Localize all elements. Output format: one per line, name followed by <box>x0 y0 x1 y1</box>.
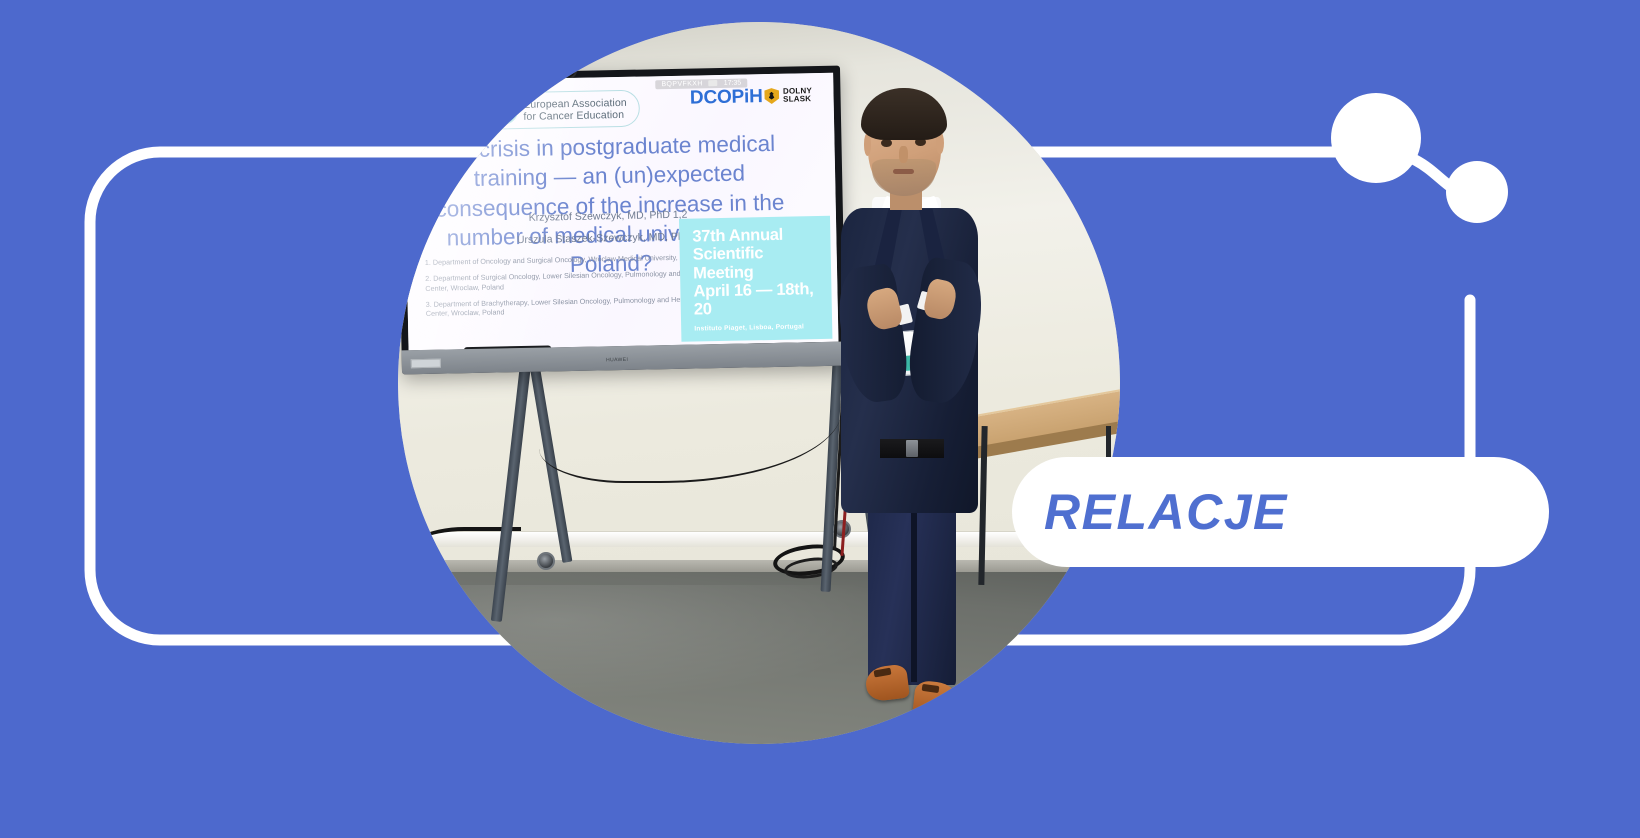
presentation-slide: BQPVFKXH 17:35 European Association for … <box>404 72 839 349</box>
interactive-display: BQPVFKXH 17:35 European Association for … <box>398 65 846 373</box>
display-brand: HUAWEI <box>606 356 628 362</box>
presenter-beard <box>872 159 936 195</box>
presenter-leg-gap <box>911 500 917 682</box>
display-screen: BQPVFKXH 17:35 European Association for … <box>404 72 839 349</box>
presenter <box>791 91 1036 741</box>
dcopih-logo: DCOPiH <box>690 86 763 109</box>
frame-connector-curve <box>1380 152 1470 196</box>
battery-icon <box>709 80 718 86</box>
node-circle-small <box>1446 161 1508 223</box>
display-label <box>411 358 441 368</box>
node-circle-large <box>1331 93 1421 183</box>
screen-glare <box>404 72 686 349</box>
poster-canvas: BQPVFKXH 17:35 European Association for … <box>0 0 1640 838</box>
mouth <box>893 169 914 175</box>
relacje-label: RELACJE <box>1044 483 1288 541</box>
belt-buckle <box>906 440 918 457</box>
osd-time: 17:35 <box>724 79 742 86</box>
crest-icon <box>764 88 779 104</box>
nose <box>899 146 907 163</box>
relacje-banner[interactable]: RELACJE <box>1012 457 1549 567</box>
photo-scene: BQPVFKXH 17:35 European Association for … <box>398 22 1120 744</box>
circular-photo: BQPVFKXH 17:35 European Association for … <box>398 22 1120 744</box>
presenter-hair <box>861 88 947 140</box>
